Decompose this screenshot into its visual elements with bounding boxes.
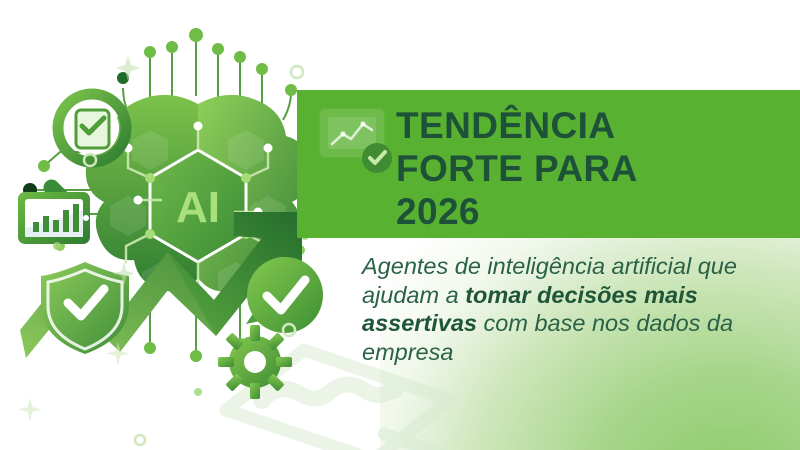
chart-monitor-icon xyxy=(317,106,395,178)
page-title: TENDÊNCIA FORTE PARA 2026 xyxy=(396,104,786,233)
brain-ai-label: AI xyxy=(176,183,220,232)
tablet-bar-chart-icon xyxy=(18,192,90,244)
gear-icon xyxy=(218,325,292,399)
subtitle: Agentes de inteligência artificial que a… xyxy=(362,252,774,366)
promo-banner: AI xyxy=(0,0,800,450)
